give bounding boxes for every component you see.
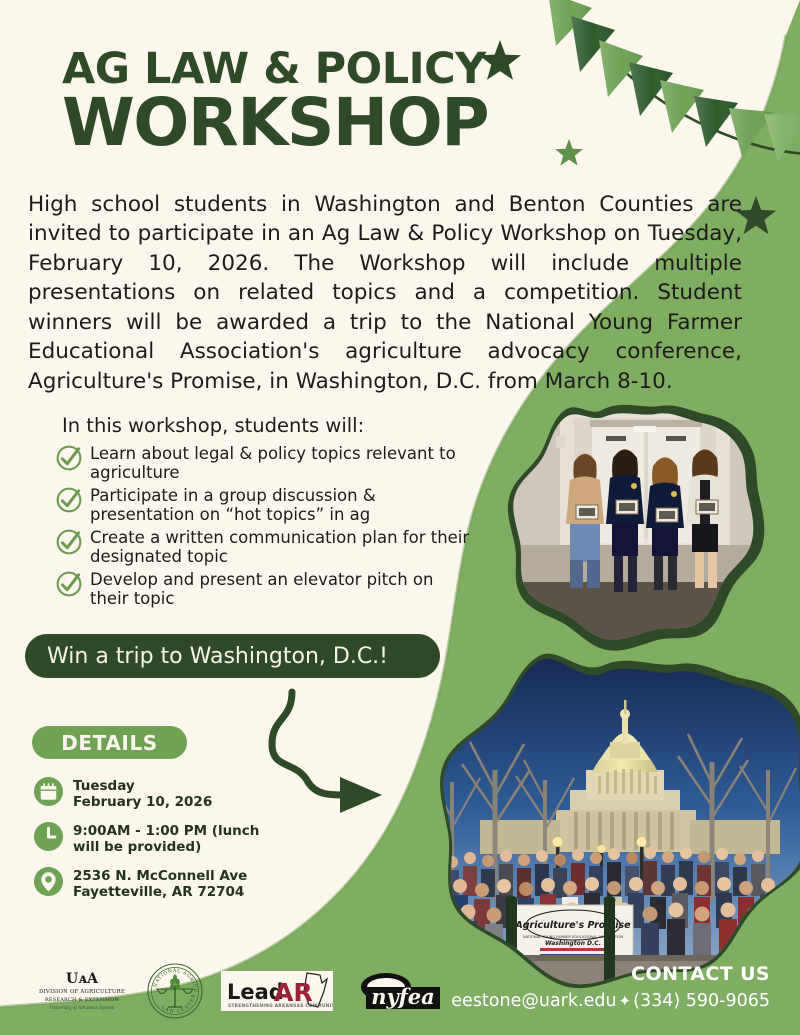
ua-monogram: UᴀA xyxy=(66,971,99,987)
detail-time-line2: will be provided) xyxy=(73,839,201,855)
win-trip-label: Win a trip to Washington, D.C.! xyxy=(47,644,388,669)
partner-logos: UᴀA DIVISION OF AGRICULTURE RESEARCH & E… xyxy=(35,962,450,1025)
check-circle-icon xyxy=(55,528,83,556)
list-item-label: Participate in a group discussion & pres… xyxy=(90,485,475,525)
detail-time: 9:00AM - 1:00 PM (lunch will be provided… xyxy=(33,821,313,856)
calendar-icon xyxy=(33,776,64,807)
list-item-label: Develop and present an elevator pitch on… xyxy=(90,569,475,609)
svg-text:RESEARCH & EXTENSION: RESEARCH & EXTENSION xyxy=(45,997,120,1003)
list-item: Create a written communication plan for … xyxy=(55,527,475,567)
details-badge-label: DETAILS xyxy=(61,731,158,755)
star-separator-icon: ✦ xyxy=(617,992,634,1010)
detail-date-line1: Tuesday xyxy=(73,778,135,794)
details-badge: DETAILS xyxy=(32,726,187,759)
detail-date: Tuesday February 10, 2026 xyxy=(33,776,313,811)
detail-time-line1: 9:00AM - 1:00 PM (lunch xyxy=(73,823,259,839)
svg-text:STRENGTHENING ARKANSAS COMMUNI: STRENGTHENING ARKANSAS COMMUNITIES xyxy=(228,1003,333,1009)
contact-details: eestone@uark.edu✦(334) 590-9065 xyxy=(451,991,770,1011)
ua-division-of-agriculture-logo: UᴀA DIVISION OF AGRICULTURE RESEARCH & E… xyxy=(35,968,129,1019)
page-title: AG LAW & POLICY WORKSHOP xyxy=(62,48,532,154)
svg-text:Washington D.C.: Washington D.C. xyxy=(545,940,601,947)
clock-icon xyxy=(33,821,64,852)
detail-location-line1: 2536 N. McConnell Ave xyxy=(73,868,247,884)
national-agricultural-law-center-logo: NATIONAL AGRICULTURAL LAW CENTER xyxy=(146,962,204,1025)
map-pin-icon xyxy=(33,866,64,897)
intro-paragraph: High school students in Washington and B… xyxy=(28,190,742,396)
svg-text:DIVISION OF AGRICULTURE: DIVISION OF AGRICULTURE xyxy=(39,989,125,995)
detail-date-text: Tuesday February 10, 2026 xyxy=(73,776,212,811)
contact-heading: CONTACT US xyxy=(631,963,770,985)
title-line-2: WORKSHOP xyxy=(62,93,532,154)
list-item-label: Learn about legal & policy topics releva… xyxy=(90,443,475,483)
list-item-label: Create a written communication plan for … xyxy=(90,527,475,567)
flyer-root: Agriculture's Promise NATIONAL YOUNG FAR… xyxy=(0,0,800,1035)
detail-location: 2536 N. McConnell Ave Fayetteville, AR 7… xyxy=(33,866,313,901)
win-trip-banner: Win a trip to Washington, D.C.! xyxy=(25,634,440,678)
workshop-heading: In this workshop, students will: xyxy=(62,414,364,437)
contact-email[interactable]: eestone@uark.edu xyxy=(451,991,616,1011)
list-item: Participate in a group discussion & pres… xyxy=(55,485,475,525)
list-item: Develop and present an elevator pitch on… xyxy=(55,569,475,609)
check-circle-icon xyxy=(55,486,83,514)
contact-phone[interactable]: (334) 590-9065 xyxy=(633,991,770,1011)
detail-location-text: 2536 N. McConnell Ave Fayetteville, AR 7… xyxy=(73,866,247,901)
list-item: Learn about legal & policy topics releva… xyxy=(55,443,475,483)
detail-location-line2: Fayetteville, AR 72704 xyxy=(73,884,244,900)
workshop-list: Learn about legal & policy topics releva… xyxy=(55,443,475,611)
svg-text:University of Arkansas System: University of Arkansas System xyxy=(49,1005,114,1010)
leadar-logo: Lead AR STRENGTHENING ARKANSAS COMMUNITI… xyxy=(221,967,333,1020)
nyfea-logo: nyfea xyxy=(350,967,450,1020)
nyfea-wordmark: nyfea xyxy=(371,984,434,1009)
check-circle-icon xyxy=(55,570,83,598)
title-line-1: AG LAW & POLICY xyxy=(62,48,532,91)
details-list: Tuesday February 10, 2026 9:00AM - 1:00 … xyxy=(33,776,313,911)
detail-date-line2: February 10, 2026 xyxy=(73,794,212,810)
check-circle-icon xyxy=(55,444,83,472)
detail-time-text: 9:00AM - 1:00 PM (lunch will be provided… xyxy=(73,821,259,856)
svg-text:AR: AR xyxy=(274,978,313,1007)
